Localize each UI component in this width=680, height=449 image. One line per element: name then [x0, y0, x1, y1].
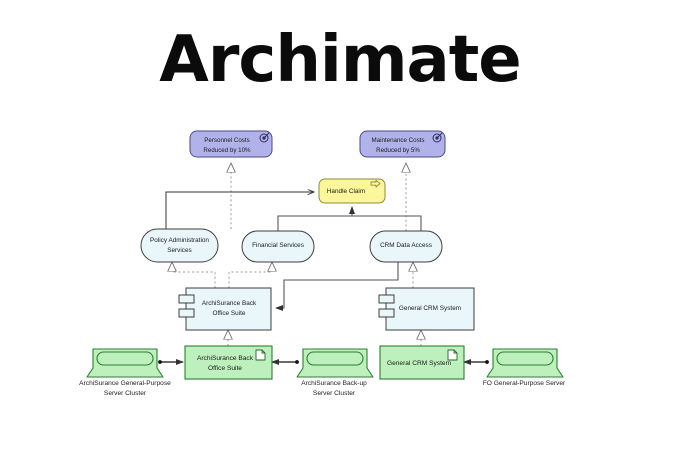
conn-financial-to-handle-claim [278, 207, 352, 231]
node-device-archisurance-backup-server-cluster[interactable] [297, 349, 373, 377]
node-artifact-general-crm-system[interactable] [380, 346, 464, 379]
archimate-diagram-page: Archimate [0, 0, 680, 449]
node-app-component-archisurance-back-office-suite[interactable] [179, 288, 271, 330]
node-business-process-handle-claim[interactable] [319, 179, 385, 203]
node-app-service-financial-services[interactable] [242, 231, 314, 262]
node-app-service-policy-administration[interactable] [141, 229, 218, 262]
node-device-fo-general-purpose-server[interactable] [487, 349, 563, 377]
node-artifact-archisurance-back-office-suite[interactable] [185, 346, 272, 379]
conn-backoffice-realizes-financial [229, 262, 272, 288]
diagram-canvas [0, 0, 680, 449]
conn-backoffice-realizes-policy [172, 262, 215, 288]
artifact-icon [448, 350, 457, 360]
node-app-component-general-crm-system[interactable] [379, 288, 474, 330]
node-device-archisurance-general-purpose-server-cluster[interactable] [87, 349, 163, 377]
node-app-service-crm-data-access[interactable] [370, 231, 442, 262]
artifact-icon [256, 350, 265, 360]
node-goal-maintenance-costs[interactable] [360, 131, 445, 157]
conn-crm-to-handle-claim [352, 216, 421, 231]
node-goal-personnel-costs[interactable] [190, 131, 272, 157]
